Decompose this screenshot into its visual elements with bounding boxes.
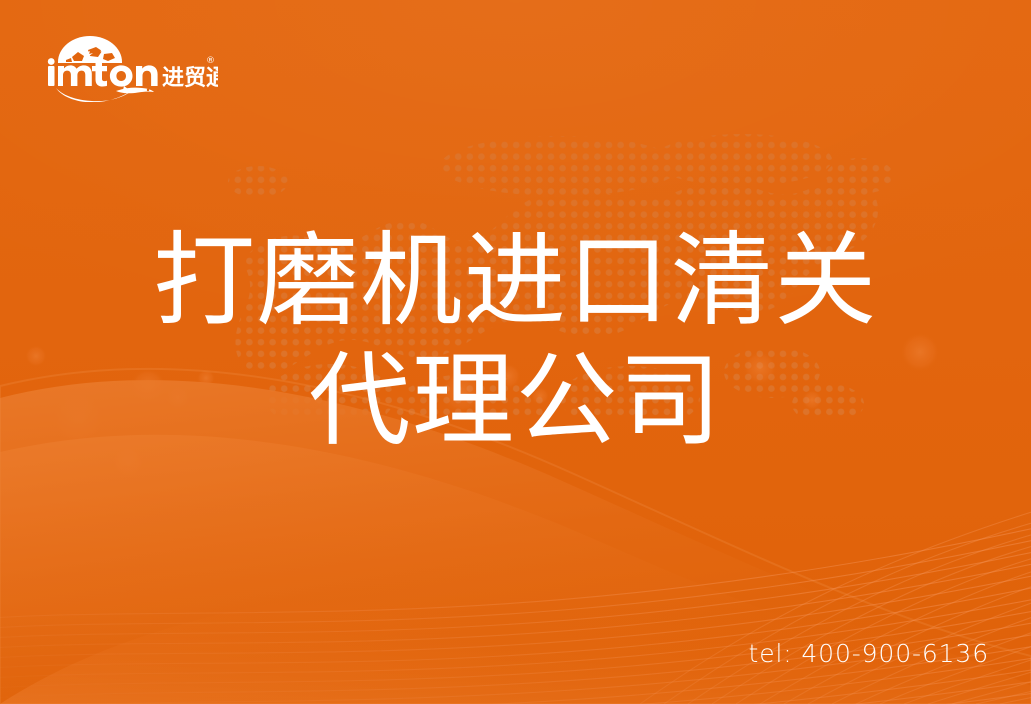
logo-chinese-name: 进贸通 [162, 66, 218, 91]
world-map-dots [180, 120, 920, 420]
swoosh-icon [56, 86, 154, 102]
background-artwork [0, 0, 1031, 704]
trademark-symbol: ® [206, 56, 215, 66]
promo-banner: 进贸通 ® 打磨机进口清关 代理公司 tel: 400-900-6136 [0, 0, 1031, 704]
brand-logo[interactable]: 进贸通 ® [38, 30, 218, 102]
contact-phone[interactable]: tel: 400-900-6136 [749, 639, 989, 668]
globe-arc-icon [58, 36, 122, 63]
crocodile-icon [116, 86, 154, 93]
